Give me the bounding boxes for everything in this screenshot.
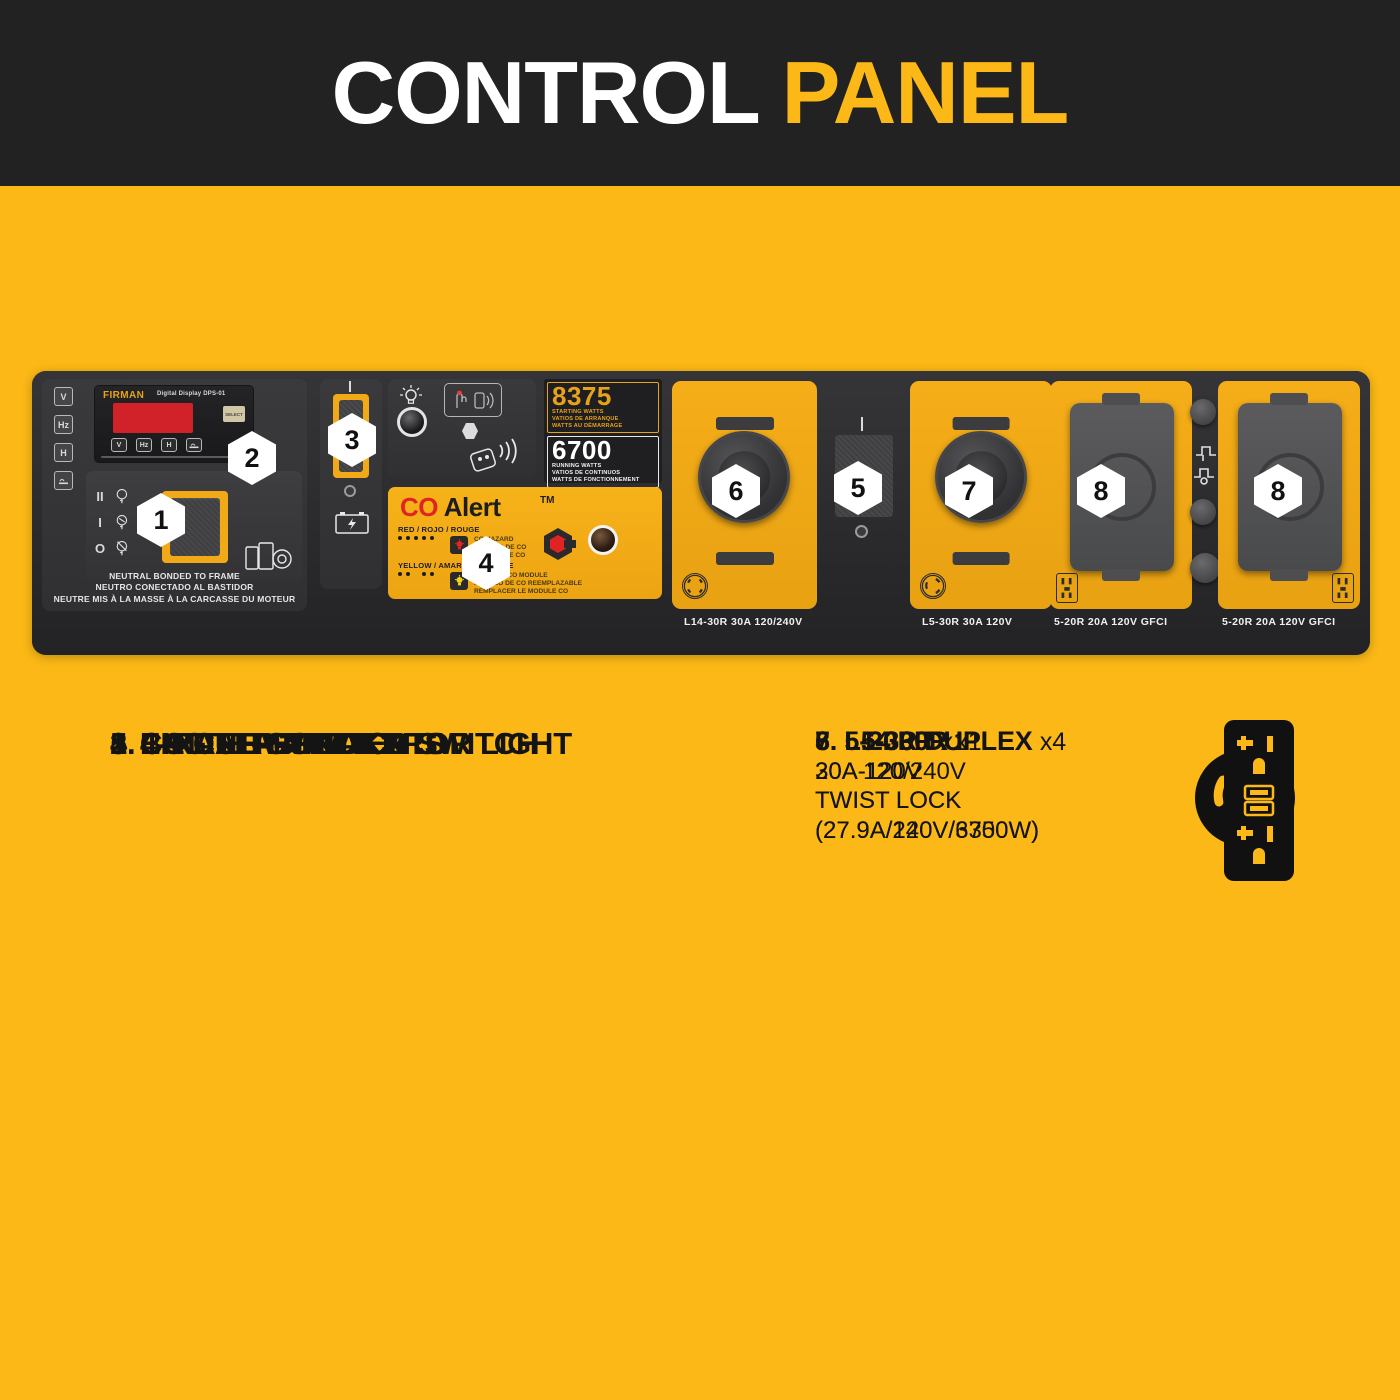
gfci-left-tab-bottom[interactable] xyxy=(1102,569,1140,581)
breaker-on-tick xyxy=(861,417,863,431)
l14-30r-pinout-icon xyxy=(682,573,708,599)
hertz-icon: Hz xyxy=(54,415,73,434)
oil-icon xyxy=(54,471,73,490)
running-watts-value: 6700 xyxy=(552,439,654,463)
co-alert-card: CO Alert TM RED / ROJO / ROUGE xyxy=(388,487,662,599)
gfci-test-button-top[interactable] xyxy=(1190,399,1216,425)
starter-on-row: I xyxy=(94,509,130,535)
l5-30r-cover-top[interactable] xyxy=(953,417,1010,430)
co-yellow-dots xyxy=(398,572,444,576)
volt-button[interactable]: V xyxy=(111,438,127,452)
hand-and-remote-icon xyxy=(445,384,499,414)
starter-run-row: II xyxy=(94,483,130,509)
co-alert-title: CO Alert xyxy=(400,492,501,523)
display-button-row: V Hz H xyxy=(111,438,202,452)
engine-icon xyxy=(244,539,294,575)
co-red-dots xyxy=(398,536,444,540)
battery-switch-group xyxy=(320,379,382,589)
battery-on-tick xyxy=(349,381,351,392)
key-start-icon xyxy=(112,487,130,505)
breaker-screw xyxy=(855,525,868,538)
starting-watts-es: VATIOS DE ARRANQUE xyxy=(552,416,654,423)
page-title-control: CONTROL xyxy=(332,43,758,142)
battery-screw xyxy=(344,485,356,497)
engine-starter-zone: II I O xyxy=(86,471,302,581)
duplex-receptacle-icon xyxy=(1219,718,1299,883)
gfci-left-pinout-icon xyxy=(1056,573,1078,603)
battery-icon xyxy=(333,507,371,537)
co-alert-logo-icon xyxy=(540,527,576,561)
display-model-label: Digital Display DPS-01 xyxy=(157,391,225,397)
co-alert-title-co: CO xyxy=(400,492,438,522)
l5-30r-pinout-icon xyxy=(920,573,946,599)
co-alert-title-alert: Alert xyxy=(444,492,501,522)
hours-icon: H xyxy=(54,443,73,462)
legend-item-8-qty: x4 xyxy=(1040,728,1066,756)
hours-button[interactable]: H xyxy=(161,438,177,452)
gfci-left-label: 5-20R 20A 120V GFCI xyxy=(1054,616,1167,628)
starting-watts-fr: WATTS AU DÉMARRAGE xyxy=(552,423,654,430)
l14-30r-cover-bottom[interactable] xyxy=(716,552,774,565)
gfci-right-label: 5-20R 20A 120V GFCI xyxy=(1222,616,1335,628)
legend-item-8-name: 8. 5-20R DUPLEX xyxy=(815,726,1033,756)
running-watts-es: VATIOS DE CONTINUOS xyxy=(552,470,654,477)
starter-position-icons: II I O xyxy=(94,483,130,561)
co-alert-tm: TM xyxy=(540,495,554,506)
lcd-screen xyxy=(113,403,193,433)
neutral-fr: NEUTRE MIS À LA MASSE À LA CARCASSE DU M… xyxy=(42,594,307,605)
co-red-header: RED / ROJO / ROUGE xyxy=(398,525,526,534)
gfci-reset-button[interactable] xyxy=(1190,499,1216,525)
select-button[interactable]: SELECT xyxy=(223,406,245,422)
legend-item-8: 8. 5-20R DUPLEX x4 20A-120V xyxy=(815,726,1335,786)
gfci-right-tab-bottom[interactable] xyxy=(1270,569,1308,581)
l5-30r-cover-bottom[interactable] xyxy=(953,552,1010,565)
remote-start-card xyxy=(388,379,536,479)
neutral-en: NEUTRAL BONDED TO FRAME xyxy=(42,571,307,582)
light-bulb-icon xyxy=(398,383,424,407)
running-watts-block: 6700 RUNNING WATTS VATIOS DE CONTINUOS W… xyxy=(547,436,659,487)
legend-item-5-num: 5. xyxy=(110,726,135,761)
touch-start-box xyxy=(444,383,502,417)
reset-test-symbol-icon xyxy=(1190,439,1220,491)
co-yellow-line3: REMPLACER LE MODULE CO xyxy=(474,588,582,596)
key-off-icon xyxy=(112,539,130,557)
firman-brand-label: FIRMAN xyxy=(103,390,144,401)
starting-watts-block: 8375 STARTING WATTS VATIOS DE ARRANQUE W… xyxy=(547,382,659,433)
l14-30r-label: L14-30R 30A 120/240V xyxy=(684,616,803,628)
key-on-icon xyxy=(112,513,130,531)
neutral-bonded-text: NEUTRAL BONDED TO FRAME NEUTRO CONECTADO… xyxy=(42,571,307,605)
gfci-left-tab-top[interactable] xyxy=(1102,393,1140,405)
starter-off-row: O xyxy=(94,535,130,561)
l14-30r-cover-top[interactable] xyxy=(716,417,774,430)
left-control-group: V Hz H FIRMAN Digital Display DPS-01 SEL… xyxy=(42,379,307,611)
legend-item-5: 5. CIRCUIT BREAKERS xyxy=(110,726,445,762)
page-title-panel: PANEL xyxy=(782,43,1069,142)
control-panel-face: V Hz H FIRMAN Digital Display DPS-01 SEL… xyxy=(32,371,1370,655)
hertz-button[interactable]: Hz xyxy=(136,438,152,452)
page-header: CONTROL PANEL xyxy=(0,0,1400,186)
l5-30r-label: L5-30R 30A 120V xyxy=(922,616,1012,628)
starting-watts-value: 8375 xyxy=(552,385,654,409)
neutral-es: NEUTRO CONECTADO AL BASTIDOR xyxy=(42,582,307,593)
ground-lug-button[interactable] xyxy=(1190,553,1220,583)
control-panel-photo: V Hz H FIRMAN Digital Display DPS-01 SEL… xyxy=(32,371,1370,655)
light-button[interactable] xyxy=(397,407,427,437)
page-title: CONTROL PANEL xyxy=(332,42,1069,144)
starting-watts-en: STARTING WATTS xyxy=(552,409,654,416)
remote-fob-icon xyxy=(470,437,526,475)
display-divider xyxy=(101,456,247,458)
running-watts-fr: WATTS DE FONCTIONNEMENT xyxy=(552,477,654,484)
co-alert-group: 8375 STARTING WATTS VATIOS DE ARRANQUE W… xyxy=(388,379,662,611)
gfci-right-tab-top[interactable] xyxy=(1270,393,1308,405)
wattage-box: 8375 STARTING WATTS VATIOS DE ARRANQUE W… xyxy=(544,379,662,483)
meter-icon-column: V Hz H xyxy=(54,387,82,499)
gfci-right-pinout-icon xyxy=(1332,573,1354,603)
co-alert-indicator-light xyxy=(588,525,618,555)
oil-button[interactable] xyxy=(186,438,202,452)
legend-item-5-label: CIRCUIT BREAKERS xyxy=(140,726,445,761)
volt-icon: V xyxy=(54,387,73,406)
